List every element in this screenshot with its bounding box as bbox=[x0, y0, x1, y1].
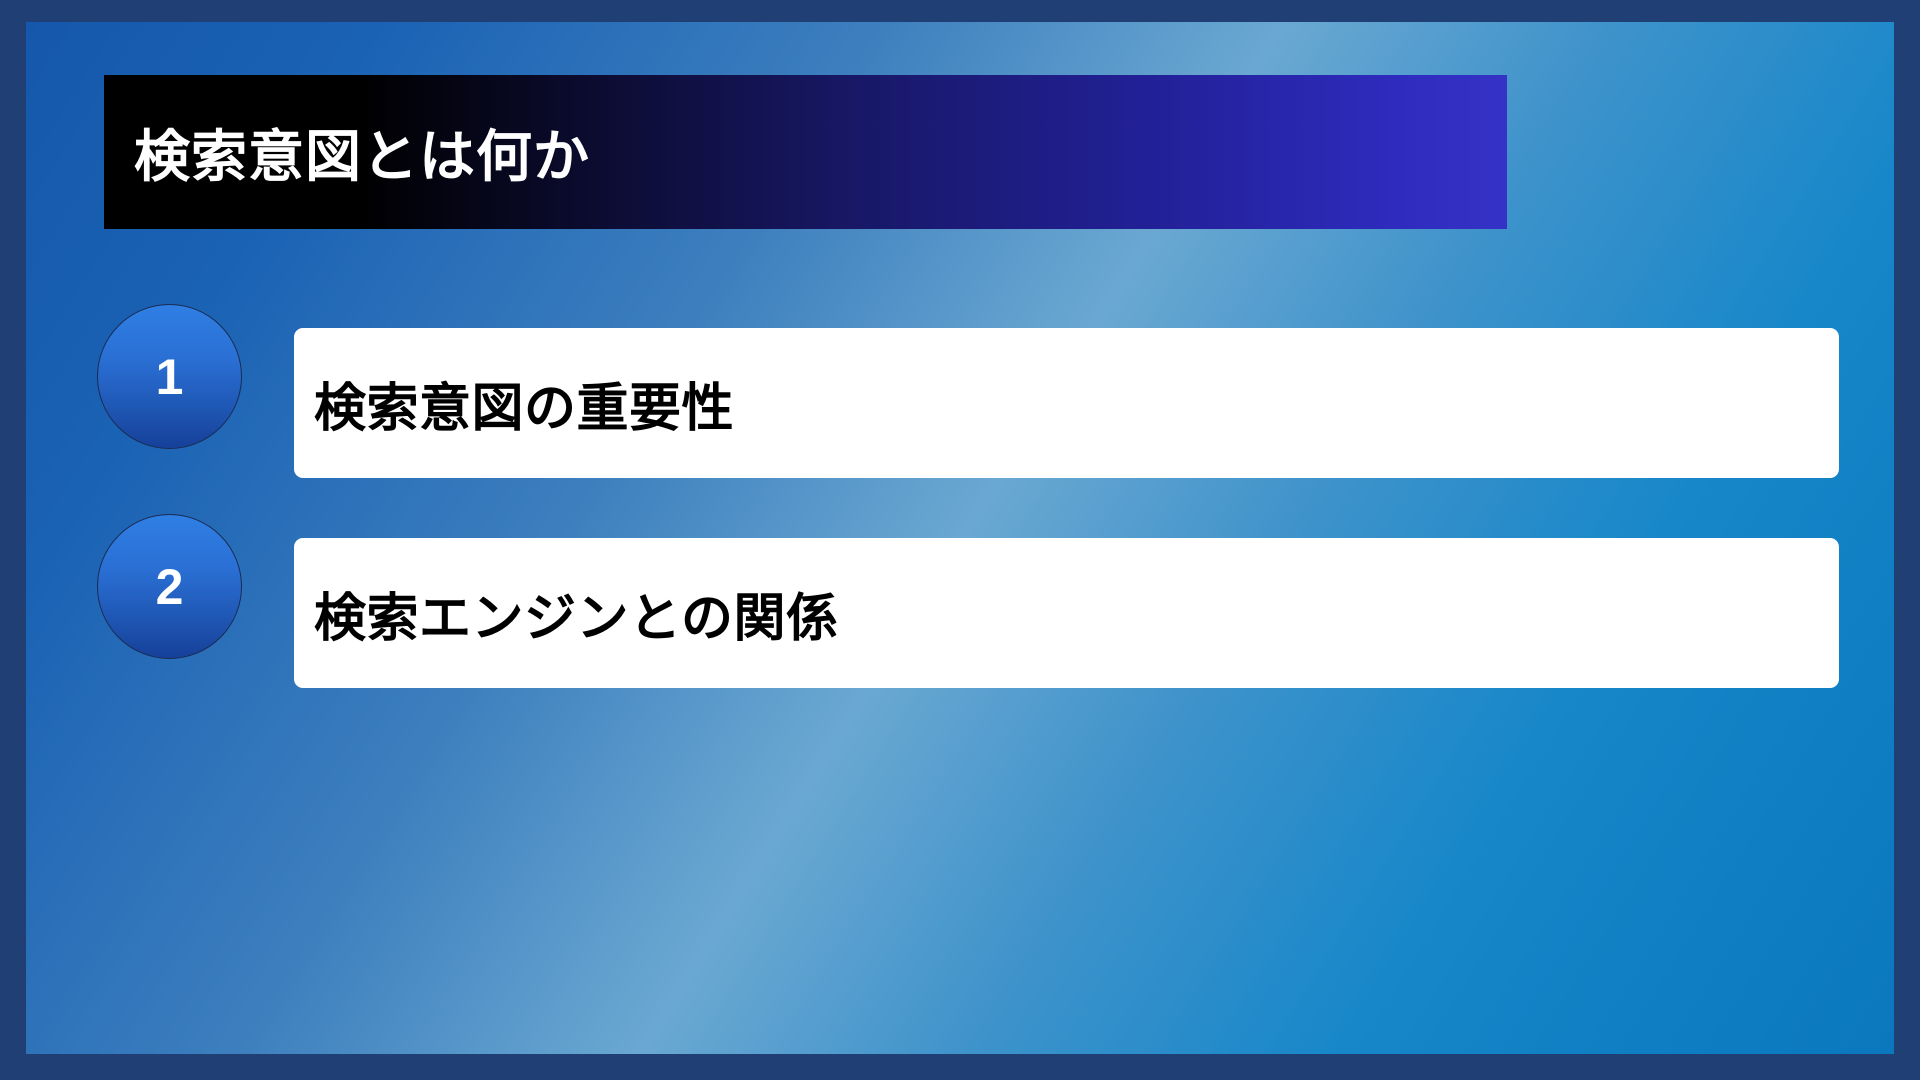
list-item-number: 2 bbox=[156, 558, 184, 616]
list-item-label: 検索意図の重要性 bbox=[294, 366, 734, 441]
list-item[interactable]: 2 検索エンジンとの関係 bbox=[26, 514, 1894, 662]
list-item-card[interactable]: 検索エンジンとの関係 bbox=[294, 538, 1839, 688]
slide-frame: 検索意図とは何か 1 検索意図の重要性 2 検索エンジンとの関係 bbox=[0, 0, 1920, 1080]
list-item-label: 検索エンジンとの関係 bbox=[294, 576, 838, 651]
list-item-card[interactable]: 検索意図の重要性 bbox=[294, 328, 1839, 478]
page-title: 検索意図とは何か bbox=[104, 112, 590, 193]
slide-body: 検索意図とは何か 1 検索意図の重要性 2 検索エンジンとの関係 bbox=[26, 22, 1894, 1054]
list-item-number-badge: 2 bbox=[97, 514, 242, 659]
slide-title-bar: 検索意図とは何か bbox=[104, 75, 1507, 229]
list-item[interactable]: 1 検索意図の重要性 bbox=[26, 304, 1894, 452]
list-item-number: 1 bbox=[156, 348, 184, 406]
list-item-number-badge: 1 bbox=[97, 304, 242, 449]
agenda-list: 1 検索意図の重要性 2 検索エンジンとの関係 bbox=[26, 304, 1894, 724]
